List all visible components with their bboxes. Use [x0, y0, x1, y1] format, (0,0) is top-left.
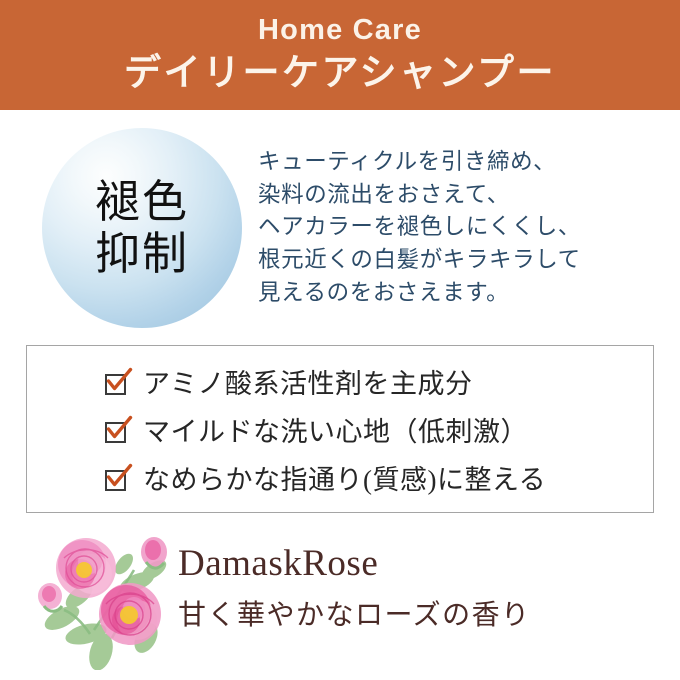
description-line: 見えるのをおさえます。: [258, 277, 668, 310]
list-item-label: マイルドな洗い心地（低刺激）: [143, 419, 528, 446]
checkmark-icon: [105, 468, 129, 492]
badge-line-1: 褪色: [95, 176, 189, 228]
list-item: アミノ酸系活性剤を主成分: [27, 360, 653, 408]
badge-line-2: 抑制: [95, 228, 189, 280]
header-banner: Home Care デイリーケアシャンプー: [0, 0, 680, 110]
product-feature-panel: Home Care デイリーケアシャンプー 褪色 抑制 キューティクルを引き締め…: [0, 0, 680, 680]
benefits-checklist: アミノ酸系活性剤を主成分 マイルドな洗い心地（低刺激） なめらかな指通り(質感)…: [26, 345, 654, 513]
damask-rose-icon: [34, 530, 184, 670]
description-line: キューティクルを引き締め、: [258, 146, 668, 179]
feature-description: キューティクルを引き締め、 染料の流出をおさえて、 ヘアカラーを褪色しにくくし、…: [258, 146, 668, 309]
fade-suppression-badge: 褪色 抑制: [42, 128, 242, 328]
brand-title: Home Care: [258, 14, 422, 47]
description-line: 根元近くの白髪がキラキラして: [258, 244, 668, 277]
fragrance-subtitle: 甘く華やかなローズの香り: [178, 601, 648, 632]
fragrance-section: DamaskRose 甘く華やかなローズの香り: [0, 522, 680, 680]
list-item: マイルドな洗い心地（低刺激）: [27, 408, 653, 456]
feature-section: 褪色 抑制 キューティクルを引き締め、 染料の流出をおさえて、 ヘアカラーを褪色…: [0, 110, 680, 338]
list-item: なめらかな指通り(質感)に整える: [27, 456, 653, 504]
description-line: 染料の流出をおさえて、: [258, 179, 668, 212]
checkmark-icon: [105, 372, 129, 396]
checkmark-icon: [105, 420, 129, 444]
product-title: デイリーケアシャンプー: [124, 50, 556, 96]
list-item-label: アミノ酸系活性剤を主成分: [143, 371, 472, 398]
list-item-label: なめらかな指通り(質感)に整える: [143, 467, 546, 494]
fragrance-text: DamaskRose 甘く華やかなローズの香り: [178, 544, 648, 631]
fragrance-title: DamaskRose: [178, 544, 648, 585]
description-line: ヘアカラーを褪色しにくくし、: [258, 211, 668, 244]
